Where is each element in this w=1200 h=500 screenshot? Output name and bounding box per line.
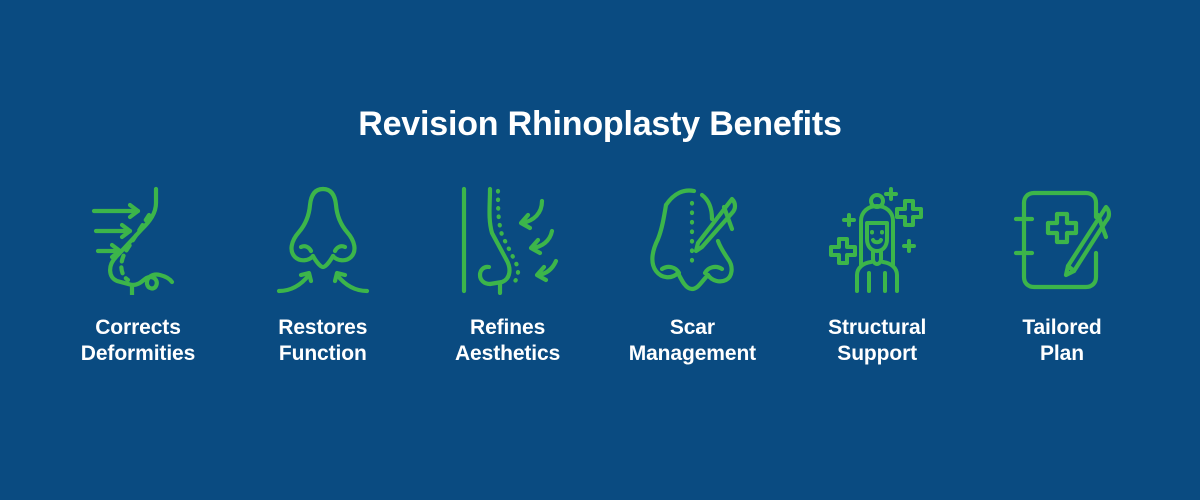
nose-profile-refine-icon (453, 182, 563, 297)
medical-notebook-pen-icon (1007, 182, 1117, 297)
patient-sparkle-cross-icon (822, 182, 932, 297)
benefit-label: Tailored Plan (1022, 315, 1101, 367)
nose-profile-arrows-icon (83, 182, 193, 297)
benefits-row: Corrects Deformities (50, 182, 1150, 367)
benefit-label: Structural Support (828, 315, 926, 367)
nose-scalpel-incision-icon (637, 182, 747, 297)
benefit-label: Restores Function (278, 315, 367, 367)
benefit-item-scar-management: Scar Management (604, 182, 780, 367)
nose-front-airflow-icon (268, 182, 378, 297)
benefit-item-refines-aesthetics: Refines Aesthetics (420, 182, 596, 367)
benefit-label: Corrects Deformities (81, 315, 195, 367)
benefit-label: Scar Management (629, 315, 756, 367)
benefit-item-structural-support: Structural Support (789, 182, 965, 367)
benefit-label: Refines Aesthetics (455, 315, 560, 367)
benefit-item-corrects-deformities: Corrects Deformities (50, 182, 226, 367)
infographic-canvas: Revision Rhinoplasty Benefits (0, 0, 1200, 500)
benefit-item-restores-function: Restores Function (235, 182, 411, 367)
benefit-item-tailored-plan: Tailored Plan (974, 182, 1150, 367)
page-title: Revision Rhinoplasty Benefits (0, 102, 1200, 146)
